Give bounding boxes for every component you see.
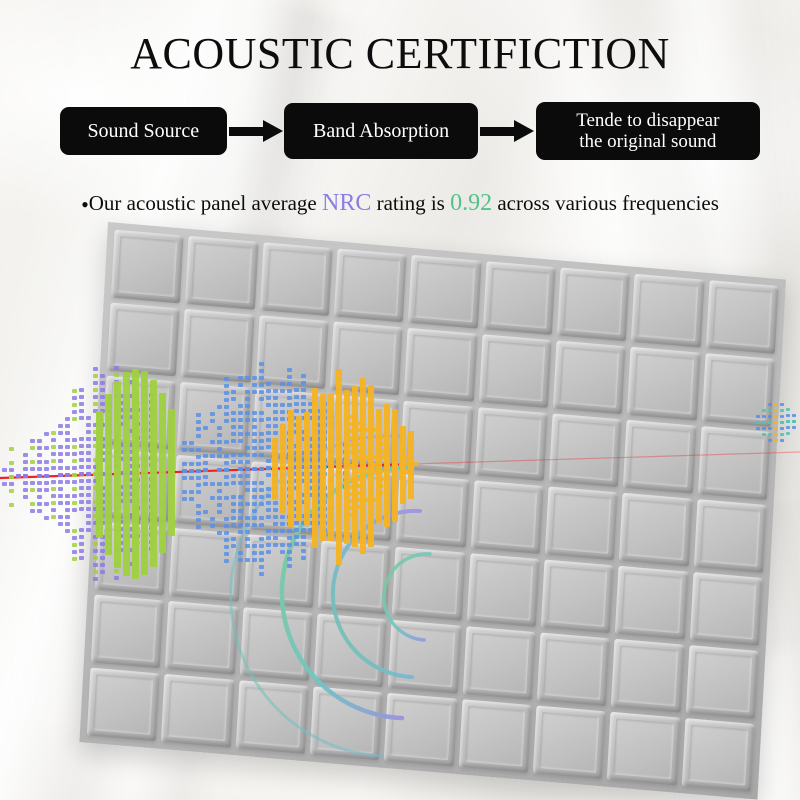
spectrum-bar (413, 462, 418, 466)
spectrum-bar (238, 411, 243, 415)
spectrum-bar (252, 544, 257, 548)
spectrum-bar (294, 521, 299, 525)
spectrum-bar (203, 454, 208, 458)
spectrum-bar (238, 516, 243, 520)
spectrum-bar (30, 509, 35, 513)
spectrum-bar (320, 394, 326, 541)
spectrum-bar (273, 522, 278, 526)
spectrum-bar (350, 443, 355, 447)
spectrum-bar (72, 536, 77, 540)
spectrum-bar (350, 492, 355, 496)
spectrum-bar (51, 515, 56, 519)
spectrum-bar (231, 481, 236, 485)
spectrum-bar (224, 517, 229, 521)
spectrum-bar (30, 467, 35, 471)
spectrum-bar (328, 394, 334, 541)
spectrum-bar (65, 445, 70, 449)
spectrum-bar (231, 537, 236, 541)
spectrum-bar (259, 432, 264, 436)
spectrum-bar (287, 536, 292, 540)
process-flow: Sound Source Band Absorption Tende to di… (60, 100, 760, 162)
spectrum-bar (16, 474, 21, 478)
spectrum-bar (266, 515, 271, 519)
spectrum-bar (86, 430, 91, 434)
spectrum-bar (259, 467, 264, 471)
spectrum-bar (196, 469, 201, 473)
spectrum-bar (114, 576, 119, 580)
spectrum-bar (37, 446, 42, 450)
spectrum-bar (217, 454, 222, 458)
spectrum-bar (768, 415, 772, 418)
spectrum-bar (86, 451, 91, 455)
spectrum-bar (30, 439, 35, 443)
spectrum-bar (72, 452, 77, 456)
spectrum-bar (266, 494, 271, 498)
spectrum-bar (245, 467, 250, 471)
spectrum-bar (210, 496, 215, 500)
spectrum-bar (86, 500, 91, 504)
spectrum-bar (79, 402, 84, 406)
spectrum-bar (224, 384, 229, 388)
spectrum-bar (762, 427, 766, 430)
spectrum-bar (245, 376, 250, 380)
spectrum-bar (72, 494, 77, 498)
spectrum-bar (357, 442, 362, 446)
spectrum-bar (93, 556, 98, 560)
spectrum-bar (371, 428, 376, 432)
spectrum-bar (786, 414, 790, 417)
spectrum-bar (294, 395, 299, 399)
spectrum-bar (2, 468, 7, 472)
spectrum-bar (182, 448, 187, 452)
spectrum-bar (224, 405, 229, 409)
spectrum-bar (774, 415, 778, 418)
spectrum-bar (301, 402, 306, 406)
spectrum-bar (252, 446, 257, 450)
spectrum-bar (357, 484, 362, 488)
spectrum-bar (231, 397, 236, 401)
spectrum-bar (100, 556, 105, 560)
spectrum-bar (9, 489, 14, 493)
spectrum-bar (203, 482, 208, 486)
spectrum-bar (231, 439, 236, 443)
spectrum-bar (259, 453, 264, 457)
spectrum-bar (252, 488, 257, 492)
spectrum-bar (350, 478, 355, 482)
spectrum-bar (79, 409, 84, 413)
spectrum-bar (51, 480, 56, 484)
spectrum-bar (210, 454, 215, 458)
spectrum-bar (259, 362, 264, 366)
spectrum-bar (245, 537, 250, 541)
spectrum-bar (287, 389, 292, 393)
spectrum-bar (100, 388, 105, 392)
spectrum-bar (217, 531, 222, 535)
spectrum-bar (266, 536, 271, 540)
spectrum-bar (238, 495, 243, 499)
spectrum-bar (399, 448, 404, 452)
spectrum-bar (266, 417, 271, 421)
spectrum-bar (217, 433, 222, 437)
spectrum-bar (203, 426, 208, 430)
spectrum-bar (238, 481, 243, 485)
spectrum-bar (357, 435, 362, 439)
spectrum-bar (72, 550, 77, 554)
spectrum-bar (252, 418, 257, 422)
spectrum-bar (9, 482, 14, 486)
spectrum-bar (350, 464, 355, 468)
spectrum-bar (780, 403, 784, 406)
spectrum-bar (238, 432, 243, 436)
spectrum-bar (30, 446, 35, 450)
spectrum-bar (44, 446, 49, 450)
spectrum-bar (86, 444, 91, 448)
spectrum-bar (252, 481, 257, 485)
spectrum-bar (210, 482, 215, 486)
spectrum-bar (774, 427, 778, 430)
spectrum-bar (150, 380, 157, 567)
spectrum-bar (357, 470, 362, 474)
spectrum-bar (252, 495, 257, 499)
spectrum-bar (93, 381, 98, 385)
spectrum-bar (774, 409, 778, 412)
spectrum-bar (272, 438, 278, 500)
spectrum-bar (259, 376, 264, 380)
spectrum-bar (245, 488, 250, 492)
spectrum-bar (72, 389, 77, 393)
spectrum-bar (786, 408, 790, 411)
spectrum-bar (364, 456, 369, 460)
spectrum-bar (79, 444, 84, 448)
spectrum-bar (37, 460, 42, 464)
spectrum-bar (385, 448, 390, 452)
spectrum-bar (23, 467, 28, 471)
spectrum-bar (266, 501, 271, 505)
spectrum-bar (350, 450, 355, 454)
flow-step-disappear-line1: Tende to disappear (576, 110, 719, 131)
spectrum-bar (774, 421, 778, 424)
spectrum-bar (37, 439, 42, 443)
spectrum-bar (273, 501, 278, 505)
spectrum-bar (756, 415, 760, 418)
spectrum-bar (51, 438, 56, 442)
spectrum-bar (182, 497, 187, 501)
spectrum-bar (364, 498, 369, 502)
spectrum-bar (378, 484, 383, 488)
spectrum-bar (30, 488, 35, 492)
spectrum-bar (23, 474, 28, 478)
spectrum-bar (231, 516, 236, 520)
spectrum-bar (406, 462, 411, 466)
spectrum-bar (65, 452, 70, 456)
spectrum-bar (196, 427, 201, 431)
spectrum-bar (210, 524, 215, 528)
spectrum-bar (357, 428, 362, 432)
spectrum-bar (196, 455, 201, 459)
spectrum-bar (65, 508, 70, 512)
spectrum-bar (287, 543, 292, 547)
spectrum-bar (385, 462, 390, 466)
spectrum-bar (79, 479, 84, 483)
spectrum-bar (37, 488, 42, 492)
spectrum-bar (287, 550, 292, 554)
spectrum-bar (762, 421, 766, 424)
spectrum-bar (252, 411, 257, 415)
spectrum-bar (65, 480, 70, 484)
spectrum-bar (189, 497, 194, 501)
spectrum-bar (252, 516, 257, 520)
spectrum-bar (196, 525, 201, 529)
spectrum-bar (259, 544, 264, 548)
spectrum-bar (350, 506, 355, 510)
spectrum-bar (280, 403, 285, 407)
spectrum-bar (224, 454, 229, 458)
spectrum-bar (72, 487, 77, 491)
spectrum-bar (23, 495, 28, 499)
spectrum-bar (252, 432, 257, 436)
spectrum-bar (44, 432, 49, 436)
spectrum-bar (266, 473, 271, 477)
spectrum-bar (224, 482, 229, 486)
arrow-right-icon (227, 120, 285, 142)
spectrum-bar (58, 424, 63, 428)
spectrum-bar (182, 476, 187, 480)
spectrum-bar (294, 542, 299, 546)
spectrum-bar (294, 388, 299, 392)
spectrum-bar (196, 504, 201, 508)
spectrum-bar (72, 543, 77, 547)
spectrum-bar (196, 434, 201, 438)
spectrum-bar (792, 420, 796, 423)
spectrum-bar (123, 372, 130, 576)
spectrum-bar (378, 491, 383, 495)
spectrum-bar (182, 462, 187, 466)
spectrum-bar (238, 404, 243, 408)
spectrum-bar (231, 544, 236, 548)
spectrum-bar (768, 409, 772, 412)
spectrum-bar (357, 456, 362, 460)
spectrum-bar (406, 469, 411, 473)
spectrum-bar (259, 516, 264, 520)
spectrum-bar (259, 390, 264, 394)
spectrum-bar (406, 455, 411, 459)
spectrum-bar (72, 466, 77, 470)
spectrum-bar (58, 480, 63, 484)
spectrum-bar (780, 433, 784, 436)
spectrum-bar (301, 556, 306, 560)
spectrum-bar (72, 459, 77, 463)
spectrum-bar (79, 500, 84, 504)
spectrum-bar (231, 453, 236, 457)
spectrum-bar (86, 423, 91, 427)
spectrum-bar (350, 429, 355, 433)
spectrum-bar (231, 502, 236, 506)
spectrum-bar (72, 501, 77, 505)
spectrum-bar (792, 414, 796, 417)
spectrum-bar (217, 510, 222, 514)
spectrum-bar (357, 505, 362, 509)
spectrum-bar (378, 442, 383, 446)
spectrum-bar (93, 367, 98, 371)
spectrum-bar (9, 447, 14, 451)
equalizer-bars (0, 206, 800, 800)
spectrum-bar (86, 416, 91, 420)
spectrum-bar (96, 411, 103, 538)
spectrum-bar (72, 410, 77, 414)
spectrum-bar (238, 467, 243, 471)
spectrum-bar (100, 374, 105, 378)
spectrum-bar (392, 469, 397, 473)
spectrum-bar (259, 418, 264, 422)
spectrum-bar (72, 403, 77, 407)
spectrum-bar (238, 523, 243, 527)
spectrum-bar (224, 391, 229, 395)
spectrum-bar (23, 453, 28, 457)
spectrum-bar (93, 374, 98, 378)
spectrum-bar (304, 412, 310, 525)
spectrum-bar (23, 488, 28, 492)
spectrum-bar (196, 448, 201, 452)
spectrum-bar (30, 481, 35, 485)
spectrum-bar (51, 459, 56, 463)
spectrum-bar (51, 487, 56, 491)
spectrum-bar (44, 460, 49, 464)
spectrum-bar (238, 502, 243, 506)
spectrum-bar (224, 440, 229, 444)
spectrum-bar (217, 489, 222, 493)
spectrum-bar (378, 456, 383, 460)
spectrum-bar (65, 424, 70, 428)
spectrum-bar (252, 453, 257, 457)
spectrum-bar (350, 436, 355, 440)
spectrum-bar (224, 412, 229, 416)
spectrum-bar (238, 558, 243, 562)
spectrum-bar (245, 558, 250, 562)
spectrum-bar (252, 551, 257, 555)
spectrum-bar (203, 510, 208, 514)
spectrum-bar (72, 396, 77, 400)
spectrum-bar (224, 468, 229, 472)
spectrum-bar (780, 415, 784, 418)
spectrum-bar (100, 570, 105, 574)
spectrum-bar (399, 469, 404, 473)
spectrum-bar (9, 468, 14, 472)
spectrum-bar (294, 409, 299, 413)
spectrum-bar (182, 469, 187, 473)
spectrum-bar (182, 441, 187, 445)
spectrum-bar (792, 426, 796, 429)
spectrum-bar (196, 483, 201, 487)
spectrum-bar (86, 486, 91, 490)
spectrum-bar (301, 528, 306, 532)
spectrum-bar (245, 418, 250, 422)
spectrum-bar (245, 446, 250, 450)
spectrum-bar (231, 411, 236, 415)
spectrum-bar (371, 456, 376, 460)
spectrum-bar (231, 495, 236, 499)
spectrum-bar (245, 404, 250, 408)
spectrum-bar (65, 466, 70, 470)
spectrum-bar (357, 421, 362, 425)
spectrum-bar (65, 529, 70, 533)
spectrum-bar (86, 493, 91, 497)
spectrum-bar (93, 542, 98, 546)
spectrum-bar (266, 487, 271, 491)
spectrum-bar (65, 431, 70, 435)
spectrum-bar (132, 369, 139, 579)
spectrum-bar (273, 508, 278, 512)
spectrum-bar (273, 543, 278, 547)
spectrum-bar (224, 461, 229, 465)
spectrum-bar (58, 501, 63, 505)
spectrum-bar (79, 535, 84, 539)
spectrum-bar (37, 453, 42, 457)
spectrum-bar (296, 416, 302, 522)
spectrum-bar (357, 477, 362, 481)
spectrum-bar (266, 445, 271, 449)
spectrum-bar (72, 557, 77, 561)
spectrum-bar (79, 458, 84, 462)
spectrum-bar (786, 432, 790, 435)
spectrum-bar (231, 418, 236, 422)
spectrum-bar (266, 424, 271, 428)
spectrum-bar (9, 503, 14, 507)
spectrum-bar (189, 462, 194, 466)
spectrum-bar (37, 495, 42, 499)
spectrum-bar (357, 491, 362, 495)
spectrum-bar (210, 412, 215, 416)
spectrum-bar (245, 453, 250, 457)
spectrum-bar (287, 557, 292, 561)
spectrum-bar (252, 425, 257, 429)
spectrum-bar (86, 472, 91, 476)
spectrum-bar (287, 529, 292, 533)
spectrum-bar (350, 513, 355, 517)
spectrum-bar (301, 549, 306, 553)
spectrum-bar (266, 431, 271, 435)
spectrum-bar (100, 563, 105, 567)
spectrum-bar (392, 462, 397, 466)
spectrum-bar (287, 375, 292, 379)
spectrum-bar (51, 508, 56, 512)
spectrum-bar (86, 514, 91, 518)
spectrum-bar (364, 470, 369, 474)
spectrum-bar (203, 468, 208, 472)
spectrum-bar (252, 467, 257, 471)
spectrum-bar (196, 511, 201, 515)
spectrum-bar (259, 558, 264, 562)
spectrum-bar (312, 388, 318, 549)
spectrum-bar (301, 535, 306, 539)
spectrum-bar (266, 543, 271, 547)
spectrum-bar (280, 382, 285, 386)
spectrum-bar (2, 482, 7, 486)
spectrum-bar (44, 488, 49, 492)
spectrum-bar (238, 530, 243, 534)
spectrum-bar (350, 499, 355, 503)
spectrum-bar (182, 490, 187, 494)
spectrum-bar (86, 507, 91, 511)
spectrum-bar (259, 502, 264, 506)
spectrum-bar (217, 482, 222, 486)
spectrum-bar (72, 473, 77, 477)
spectrum-bar (79, 486, 84, 490)
spectrum-bar (231, 390, 236, 394)
spectrum-bar (287, 403, 292, 407)
spectrum-bar (224, 398, 229, 402)
spectrum-bar (44, 502, 49, 506)
spectrum-bar (259, 537, 264, 541)
